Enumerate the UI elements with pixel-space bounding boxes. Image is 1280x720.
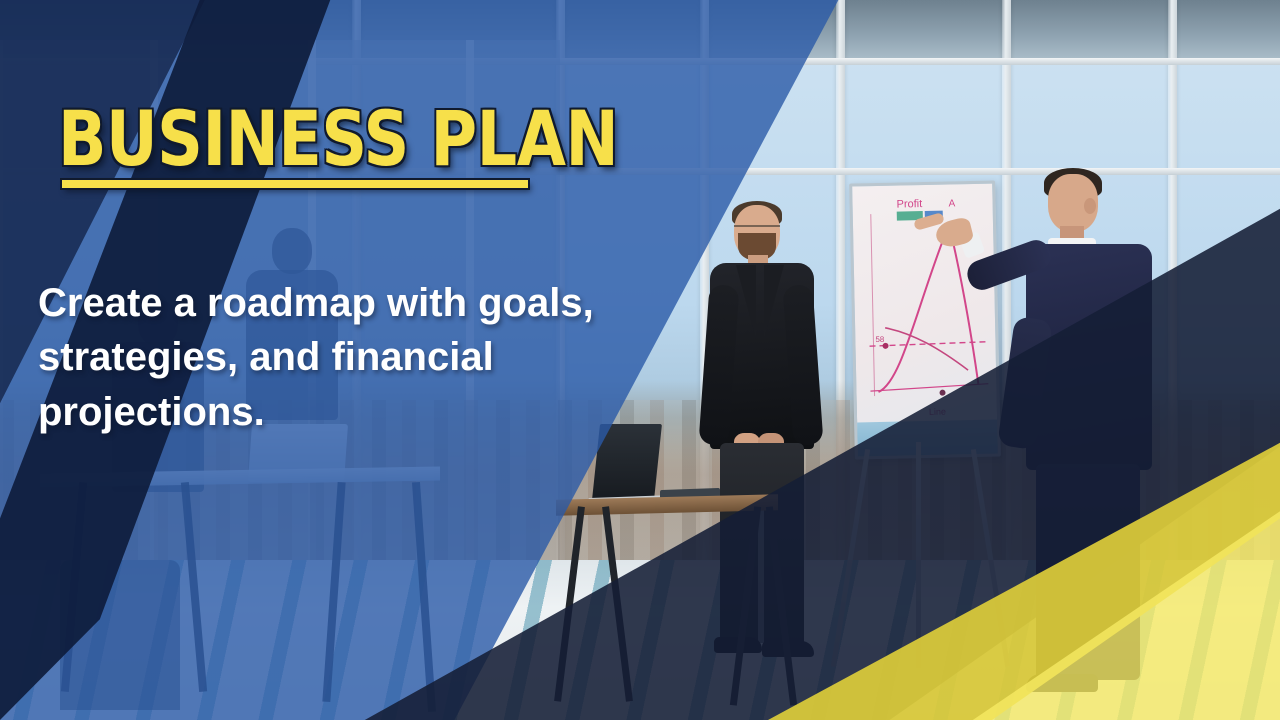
eyeglasses — [734, 225, 780, 236]
suit-trousers — [1036, 464, 1140, 680]
dress-shoe — [1026, 674, 1098, 692]
svg-text:58: 58 — [875, 335, 885, 344]
person-head — [272, 228, 312, 274]
subtitle-text: Create a roadmap with goals, strategies,… — [38, 276, 678, 439]
listener-navy-suit — [1020, 168, 1170, 708]
svg-text:Profit: Profit — [896, 198, 922, 211]
jacket-lapel — [736, 265, 756, 339]
svg-text:Line: Line — [929, 407, 946, 417]
jacket-lapel — [764, 265, 784, 339]
office-chair — [60, 560, 180, 710]
easel-leg — [971, 449, 1010, 667]
title-block: BUSINESS PLAN — [58, 104, 758, 174]
business-plan-slide: Profit A Line 58 — [0, 0, 1280, 720]
page-title: BUSINESS PLAN — [58, 104, 709, 174]
easel-leg — [916, 442, 921, 668]
title-underline-bar — [62, 180, 528, 188]
person-ear — [1084, 198, 1096, 214]
easel-legs — [838, 448, 1008, 670]
presenter-black-suit — [700, 205, 820, 675]
leg-gap — [758, 505, 764, 643]
svg-text:A: A — [948, 198, 955, 209]
